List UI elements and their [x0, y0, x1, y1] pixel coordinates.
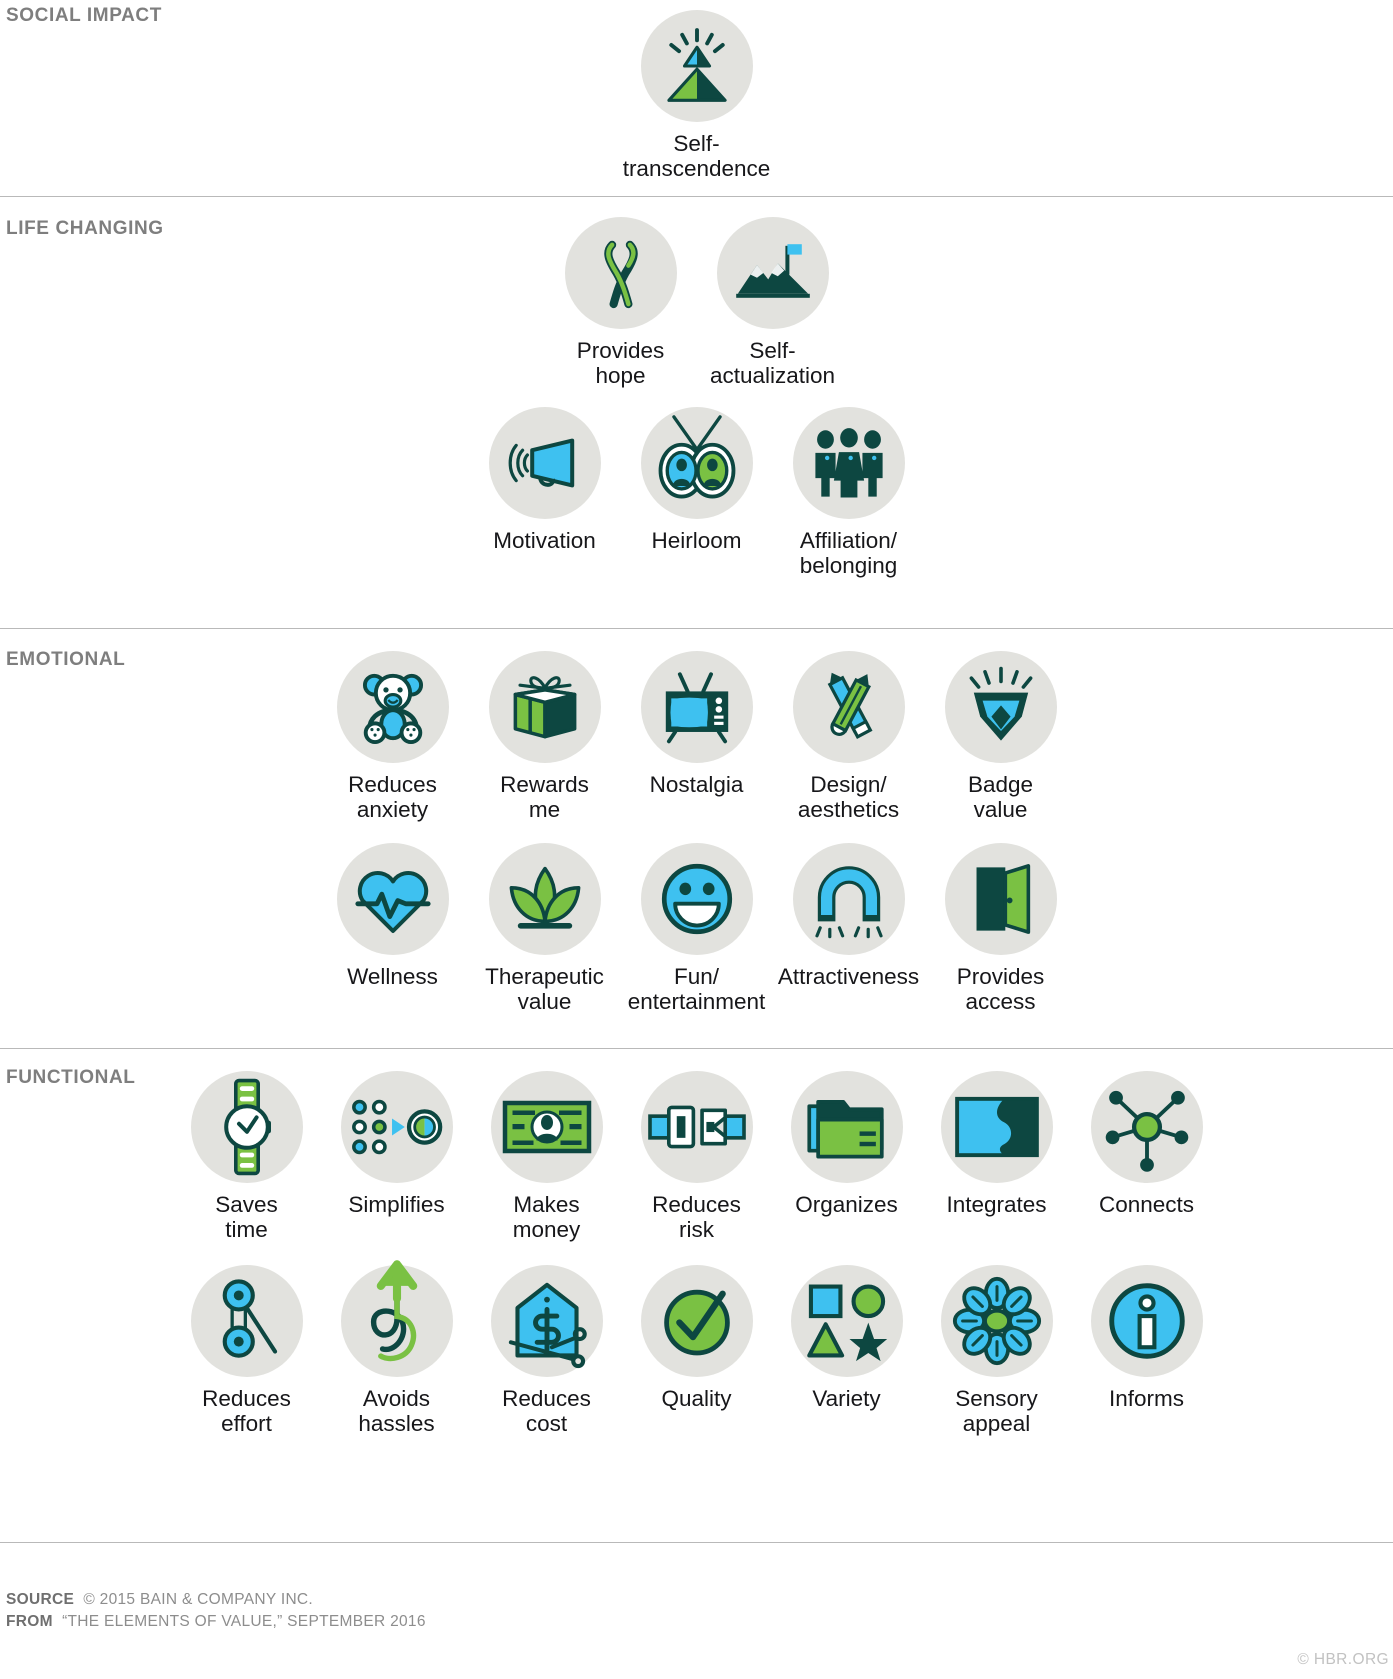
- icon-row: Motivation: [469, 407, 925, 579]
- value-element-therapeutic-value[interactable]: Therapeutic value: [469, 843, 621, 1015]
- value-element-quality[interactable]: Quality: [622, 1265, 772, 1411]
- value-element-label: Wellness: [347, 964, 438, 989]
- tier-emotional: EMOTIONAL: [0, 628, 1393, 1048]
- value-element-label: Connects: [1099, 1192, 1194, 1217]
- heart-pulse-icon: [337, 843, 449, 955]
- icon-row: Wellness Therapeutic value: [317, 843, 1077, 1015]
- value-element-label: Provides hope: [577, 338, 665, 389]
- value-element-motivation[interactable]: Motivation: [469, 407, 621, 553]
- seatbelt-buckle-icon: [641, 1071, 753, 1183]
- value-element-label: Integrates: [946, 1192, 1046, 1217]
- value-element-label: Simplifies: [348, 1192, 444, 1217]
- value-element-wellness[interactable]: Wellness: [317, 843, 469, 989]
- value-element-badge-value[interactable]: Badge value: [925, 651, 1077, 823]
- awareness-ribbon-icon: [565, 217, 677, 329]
- banknote-icon: [491, 1071, 603, 1183]
- value-element-label: Nostalgia: [650, 772, 744, 797]
- value-element-label: Heirloom: [651, 528, 741, 553]
- value-element-nostalgia[interactable]: Nostalgia: [621, 651, 773, 797]
- gift-box-icon: [489, 651, 601, 763]
- value-element-label: Provides access: [957, 964, 1045, 1015]
- value-element-self-actualization[interactable]: Self- actualization: [697, 217, 849, 389]
- value-element-reduces-anxiety[interactable]: Reduces anxiety: [317, 651, 469, 823]
- teddy-bear-icon: [337, 651, 449, 763]
- source-label: SOURCE: [6, 1591, 74, 1608]
- value-element-avoids-hassles[interactable]: Avoids hassles: [322, 1265, 472, 1437]
- value-element-label: Quality: [661, 1386, 731, 1411]
- value-element-provides-hope[interactable]: Provides hope: [545, 217, 697, 389]
- value-element-label: Variety: [812, 1386, 880, 1411]
- value-element-reduces-risk[interactable]: Reduces risk: [622, 1071, 772, 1243]
- tier-label-functional: FUNCTIONAL: [6, 1067, 135, 1089]
- leaf-plant-icon: [489, 843, 601, 955]
- tier-life-changing: LIFE CHANGING Provides hope: [0, 196, 1393, 628]
- value-element-label: Reduces anxiety: [348, 772, 437, 823]
- pulley-icon: [191, 1265, 303, 1377]
- source-text: © 2015 BAIN & COMPANY INC.: [83, 1591, 313, 1608]
- tier-rows: Reduces anxiety: [0, 629, 1393, 1015]
- icon-row: Saves time: [172, 1071, 1222, 1243]
- value-element-variety[interactable]: Variety: [772, 1265, 922, 1411]
- value-element-label: Sensory appeal: [955, 1386, 1038, 1437]
- value-element-label: Design/ aesthetics: [798, 772, 899, 823]
- value-element-saves-time[interactable]: Saves time: [172, 1071, 322, 1243]
- flower-icon: [941, 1265, 1053, 1377]
- tier-label-emotional: EMOTIONAL: [6, 649, 125, 671]
- from-label: FROM: [6, 1613, 53, 1630]
- pencil-brush-icon: [793, 651, 905, 763]
- badge-shield-icon: [945, 651, 1057, 763]
- tangle-arrow-icon: [341, 1265, 453, 1377]
- value-element-label: Makes money: [513, 1192, 581, 1243]
- value-element-affiliation-belonging[interactable]: Affiliation/ belonging: [773, 407, 925, 579]
- check-circle-icon: [641, 1265, 753, 1377]
- three-people-icon: [793, 407, 905, 519]
- locket-portraits-icon: [641, 407, 753, 519]
- value-element-simplifies[interactable]: Simplifies: [322, 1071, 472, 1217]
- value-element-integrates[interactable]: Integrates: [922, 1071, 1072, 1217]
- value-element-label: Reduces risk: [652, 1192, 741, 1243]
- value-element-reduces-effort[interactable]: Reduces effort: [172, 1265, 322, 1437]
- value-element-label: Motivation: [493, 528, 596, 553]
- value-element-fun-entertainment[interactable]: Fun/ entertainment: [621, 843, 773, 1015]
- open-door-icon: [945, 843, 1057, 955]
- value-element-label: Attractiveness: [778, 964, 919, 989]
- value-element-attractiveness[interactable]: Attractiveness: [773, 843, 925, 989]
- megaphone-icon: [489, 407, 601, 519]
- value-element-provides-access[interactable]: Provides access: [925, 843, 1077, 1015]
- tier-label-life-changing: LIFE CHANGING: [6, 218, 164, 240]
- tier-label-social-impact: SOCIAL IMPACT: [6, 5, 162, 27]
- tier-social-impact: SOCIAL IMPACT: [0, 0, 1393, 196]
- value-element-organizes[interactable]: Organizes: [772, 1071, 922, 1217]
- shapes-icon: [791, 1265, 903, 1377]
- value-element-self-transcendence[interactable]: Self- transcendence: [621, 10, 773, 182]
- value-element-reduces-cost[interactable]: Reduces cost: [472, 1265, 622, 1437]
- tier-rows: Saves time: [0, 1049, 1393, 1437]
- tier-rows: Self- transcendence: [0, 0, 1393, 182]
- value-element-label: Self- transcendence: [623, 131, 771, 182]
- icon-row: Reduces anxiety: [317, 651, 1077, 823]
- value-element-label: Saves time: [215, 1192, 278, 1243]
- value-element-label: Reduces effort: [202, 1386, 291, 1437]
- smiley-face-icon: [641, 843, 753, 955]
- retro-tv-icon: [641, 651, 753, 763]
- value-element-label: Reduces cost: [502, 1386, 591, 1437]
- dots-to-target-icon: [341, 1071, 453, 1183]
- icon-row: Self- transcendence: [621, 10, 773, 182]
- wristwatch-icon: [191, 1071, 303, 1183]
- value-element-label: Informs: [1109, 1386, 1184, 1411]
- value-element-label: Organizes: [795, 1192, 898, 1217]
- folders-icon: [791, 1071, 903, 1183]
- tier-functional: FUNCTIONAL: [0, 1048, 1393, 1542]
- value-element-label: Affiliation/ belonging: [800, 528, 898, 579]
- value-element-label: Avoids hassles: [358, 1386, 434, 1437]
- puzzle-piece-icon: [941, 1071, 1053, 1183]
- icon-row: Provides hope Self- actualization: [545, 217, 849, 389]
- value-element-rewards-me[interactable]: Rewards me: [469, 651, 621, 823]
- value-element-label: Fun/ entertainment: [628, 964, 766, 1015]
- magnet-icon: [793, 843, 905, 955]
- value-element-label: Rewards me: [500, 772, 589, 823]
- value-element-label: Self- actualization: [710, 338, 835, 389]
- value-element-design-aesthetics[interactable]: Design/ aesthetics: [773, 651, 925, 823]
- value-element-heirloom[interactable]: Heirloom: [621, 407, 773, 553]
- value-element-informs[interactable]: Informs: [1072, 1265, 1222, 1411]
- value-element-label: Badge value: [968, 772, 1033, 823]
- source-credit: SOURCE © 2015 BAIN & COMPANY INC. FROM “…: [6, 1589, 426, 1633]
- value-element-connects[interactable]: Connects: [1072, 1071, 1222, 1217]
- value-element-sensory-appeal[interactable]: Sensory appeal: [922, 1265, 1072, 1437]
- hbr-credit: © HBR.ORG: [1297, 1651, 1389, 1669]
- footer: SOURCE © 2015 BAIN & COMPANY INC. FROM “…: [0, 1542, 1393, 1679]
- tier-rows: Provides hope Self- actualization: [0, 197, 1393, 579]
- network-nodes-icon: [1091, 1071, 1203, 1183]
- info-circle-icon: [1091, 1265, 1203, 1377]
- icon-row: Reduces effort Avoids hassles: [172, 1265, 1222, 1437]
- pyramid-rays-icon: [641, 10, 753, 122]
- price-tag-scissors-icon: [491, 1265, 603, 1377]
- from-text: “THE ELEMENTS OF VALUE,” SEPTEMBER 2016: [62, 1613, 426, 1630]
- mountain-flag-icon: [717, 217, 829, 329]
- value-element-makes-money[interactable]: Makes money: [472, 1071, 622, 1243]
- value-element-label: Therapeutic value: [485, 964, 604, 1015]
